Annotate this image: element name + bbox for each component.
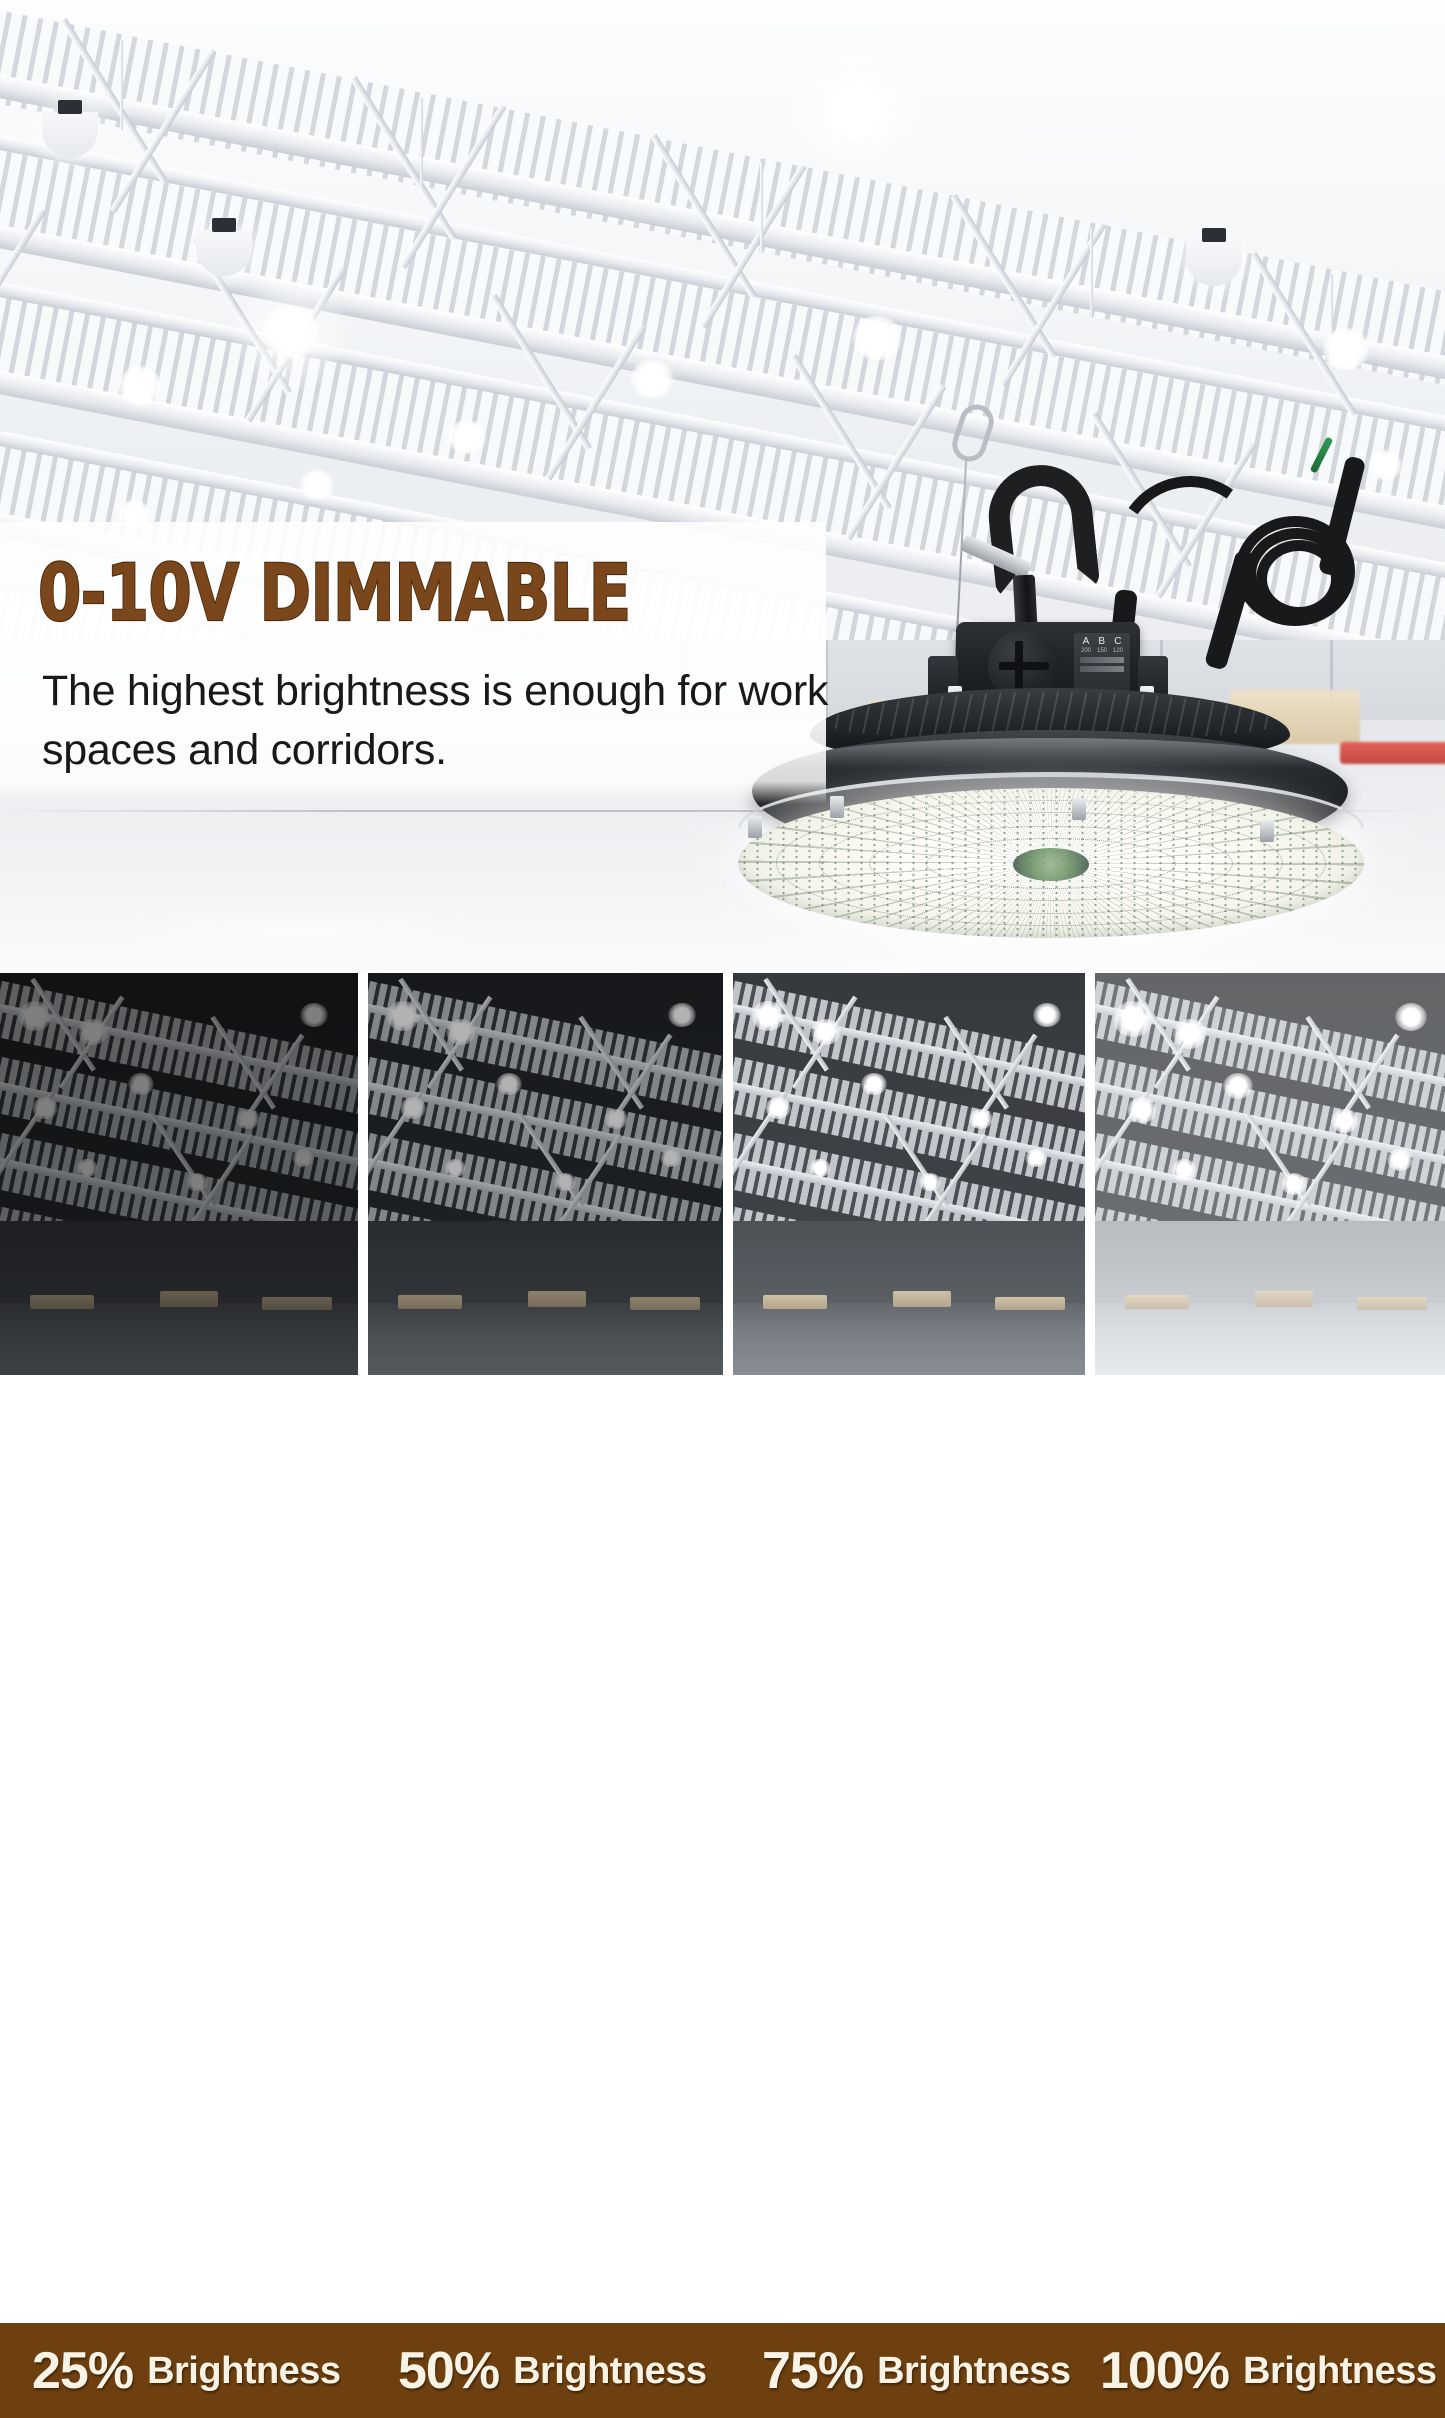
selector-watt-b: 150 [1097,648,1107,654]
headline-panel: 0-10V DIMMABLE The highest brightness is… [0,522,826,804]
brightness-percent: 100% [1100,2341,1229,2401]
hero-banner: A B C 200 150 120 [0,0,1445,973]
brightness-label: Brightness [877,2350,1070,2393]
selector-option-b: B [1098,636,1105,647]
mounting-hook [984,460,1101,598]
ceiling-lamp-glow [852,316,902,360]
selector-option-c: C [1114,636,1121,647]
brightness-comparison-strip: 25% Brightness 50% Brightness 75% Bright… [0,973,1445,1445]
brightness-thumbnail-75[interactable] [733,973,1085,1375]
ceiling-lamp-glow [1322,328,1370,370]
cross-slot-icon [1015,641,1023,691]
brightness-percent: 50% [398,2341,499,2401]
ground-wire [1310,436,1333,473]
brightness-percent: 25% [32,2341,133,2401]
brightness-thumbnail-50[interactable] [368,973,723,1375]
ceiling-lamp-glow [448,420,486,454]
ceiling-lamp-glow [118,366,162,406]
page-subtitle: The highest brightness is enough for wor… [42,662,832,781]
selector-watt-c: 120 [1113,648,1123,654]
brightness-label: Brightness [147,2350,340,2393]
brightness-thumbnail-25[interactable] [0,973,358,1375]
brightness-caption-25: 25% Brightness [32,2339,341,2403]
brightness-thumbnail-100[interactable] [1095,973,1445,1375]
brightness-caption-50: 50% Brightness [398,2339,707,2403]
carabiner-clip-icon [948,400,998,466]
brightness-label: Brightness [513,2350,706,2393]
ceiling-lamp-glow [630,360,674,398]
brightness-label: Brightness [1243,2350,1436,2393]
brightness-percent: 75% [762,2341,863,2401]
cross-slot-icon [999,662,1049,670]
wattage-selector-label: A B C 200 150 120 [1074,633,1130,695]
brightness-caption-100: 100% Brightness [1100,2339,1436,2403]
brightness-caption-75: 75% Brightness [762,2339,1071,2403]
led-center-hub [1013,848,1088,881]
page-title: 0-10V DIMMABLE [38,555,630,633]
selector-option-a: A [1083,636,1090,647]
ceiling-lamp-glow [300,470,334,500]
selector-watt-a: 200 [1081,648,1091,654]
